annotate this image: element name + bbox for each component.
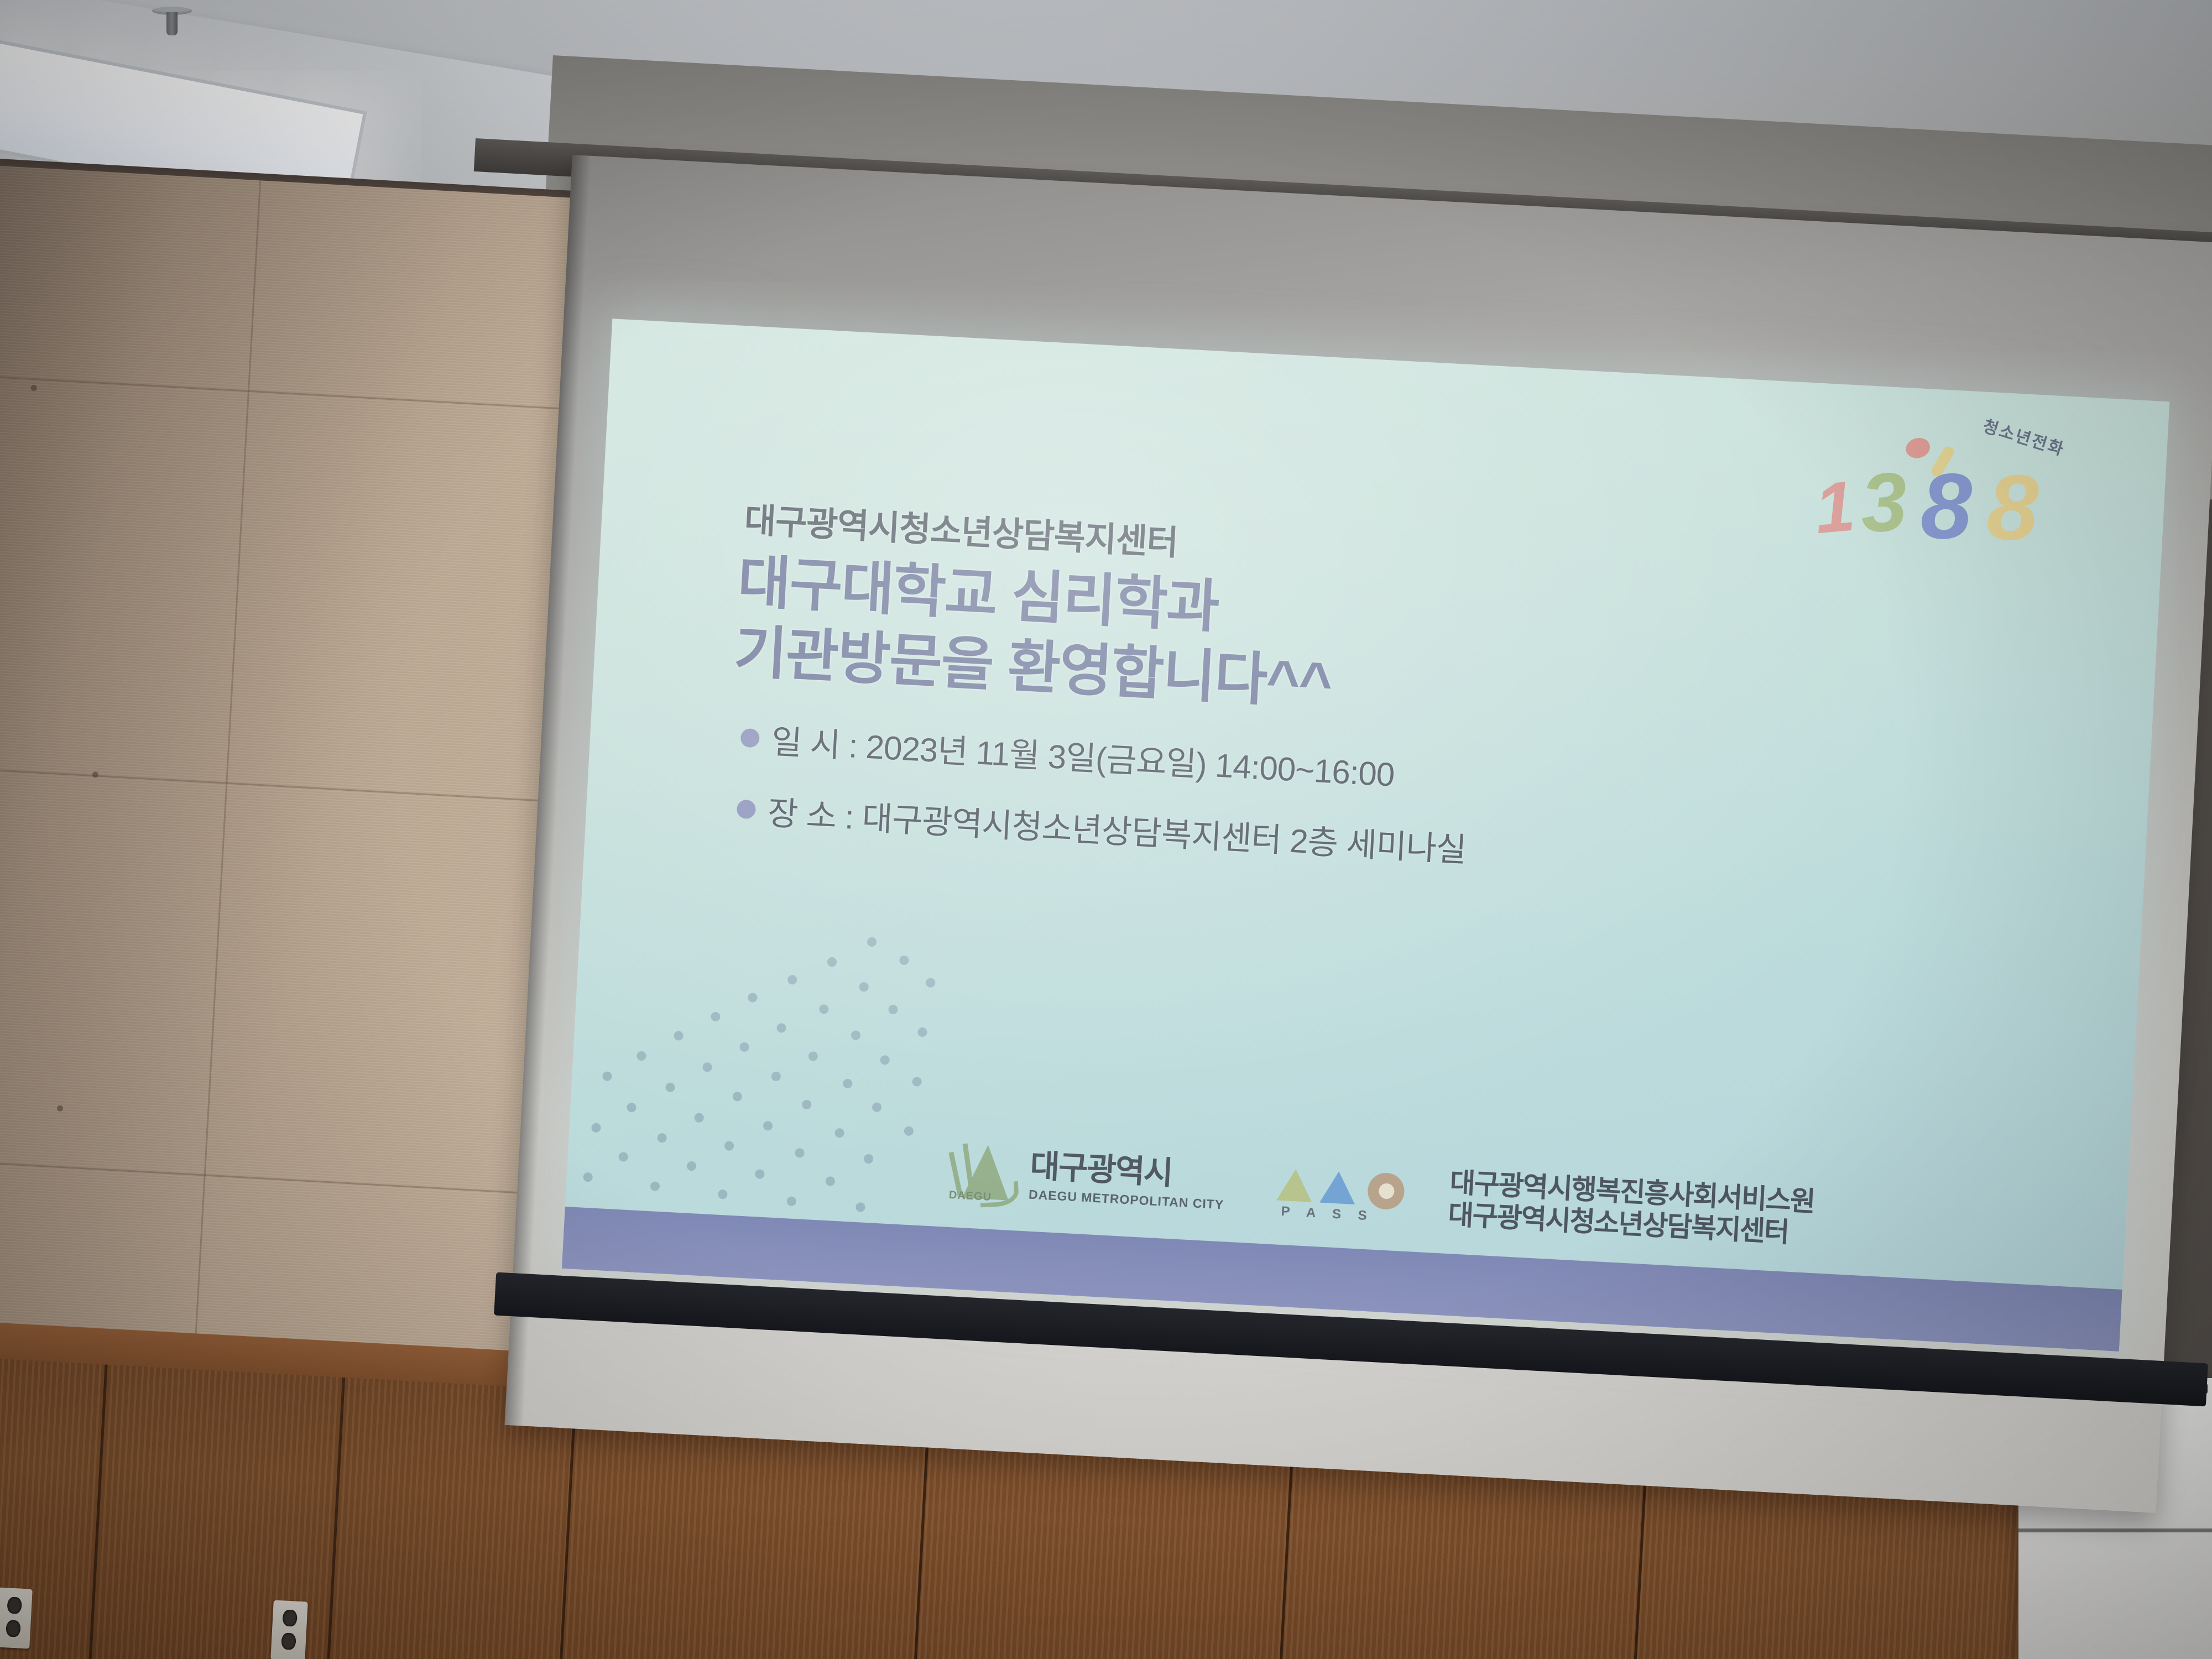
bullet-location-text: 장 소 : 대구광역시청소년상담복지센터 2층 세미나실 xyxy=(766,786,1467,872)
daegu-city-logo: DAEGU 대구광역시 DAEGU METROPOLITAN CITY xyxy=(947,1139,1227,1219)
sprinkler-stem xyxy=(166,12,178,35)
daegu-triangle-icon: DAEGU xyxy=(947,1139,1017,1208)
pass-chevron-blue xyxy=(1319,1171,1357,1204)
projected-slide: 청소년전화 1 3 8 8 대구광역시청소년상담복지센터 대구대학교 심리학과 … xyxy=(562,319,2170,1352)
bullet-datetime-text: 일 시 : 2023년 11월 3일(금요일) 14:00~16:00 xyxy=(770,715,1396,796)
room-photo-scene: 청소년전화 1 3 8 8 대구광역시청소년상담복지센터 대구대학교 심리학과 … xyxy=(0,0,2212,1659)
fire-sprinkler-head xyxy=(152,7,192,40)
pass-chevron-green xyxy=(1276,1168,1313,1202)
white-unit-seam xyxy=(2018,1528,2212,1532)
logo-1388-digit-8-second: 8 xyxy=(1986,461,2039,555)
pass-mark-caption: P A S S xyxy=(1281,1204,1374,1224)
logo-1388-digit-1: 1 xyxy=(1812,471,1858,545)
slide-bullet-list: 일 시 : 2023년 11월 3일(금요일) 14:00~16:00 장 소 … xyxy=(734,713,1471,895)
outlet-socket xyxy=(282,1609,298,1626)
projector-screen: 청소년전화 1 3 8 8 대구광역시청소년상담복지센터 대구대학교 심리학과 … xyxy=(505,155,2212,1513)
power-outlet[interactable] xyxy=(270,1600,308,1659)
daegu-name-kr: 대구광역시 xyxy=(1029,1150,1226,1193)
headline-line-2: 기관방문을 환영합니다^^ xyxy=(732,617,1333,719)
logo-1388-digit-3: 3 xyxy=(1859,460,1909,545)
pass-chevrons-icon: P A S S xyxy=(1273,1156,1437,1230)
daegu-logo-text: 대구광역시 DAEGU METROPOLITAN CITY xyxy=(1028,1150,1226,1213)
logo-1388: 청소년전화 1 3 8 8 xyxy=(1808,411,2124,555)
bullet-dot-icon xyxy=(740,728,760,748)
pass-logo-text: 대구광역시행복진흥사회서비스원 대구광역시청소년상담복지센터 xyxy=(1447,1166,1815,1250)
power-outlet[interactable] xyxy=(0,1587,33,1648)
pass-circle xyxy=(1366,1172,1405,1210)
logo-1388-digit-8-first: 8 xyxy=(1921,460,1973,552)
list-item: 장 소 : 대구광역시청소년상담복지센터 2층 세미나실 xyxy=(735,785,1467,872)
outlet-socket xyxy=(7,1597,22,1614)
dot-pattern-decoration xyxy=(576,917,945,1223)
list-item: 일 시 : 2023년 11월 3일(금요일) 14:00~16:00 xyxy=(739,713,1471,800)
outlet-socket xyxy=(6,1620,21,1637)
outlet-socket xyxy=(281,1632,296,1650)
daegu-mark-caption: DAEGU xyxy=(948,1189,992,1204)
slide-headline: 대구대학교 심리학과 기관방문을 환영합니다^^ xyxy=(732,547,1337,719)
bullet-dot-icon xyxy=(737,799,757,819)
pass-center-logo: P A S S 대구광역시행복진흥사회서비스원 대구광역시청소년상담복지센터 xyxy=(1273,1156,1815,1251)
